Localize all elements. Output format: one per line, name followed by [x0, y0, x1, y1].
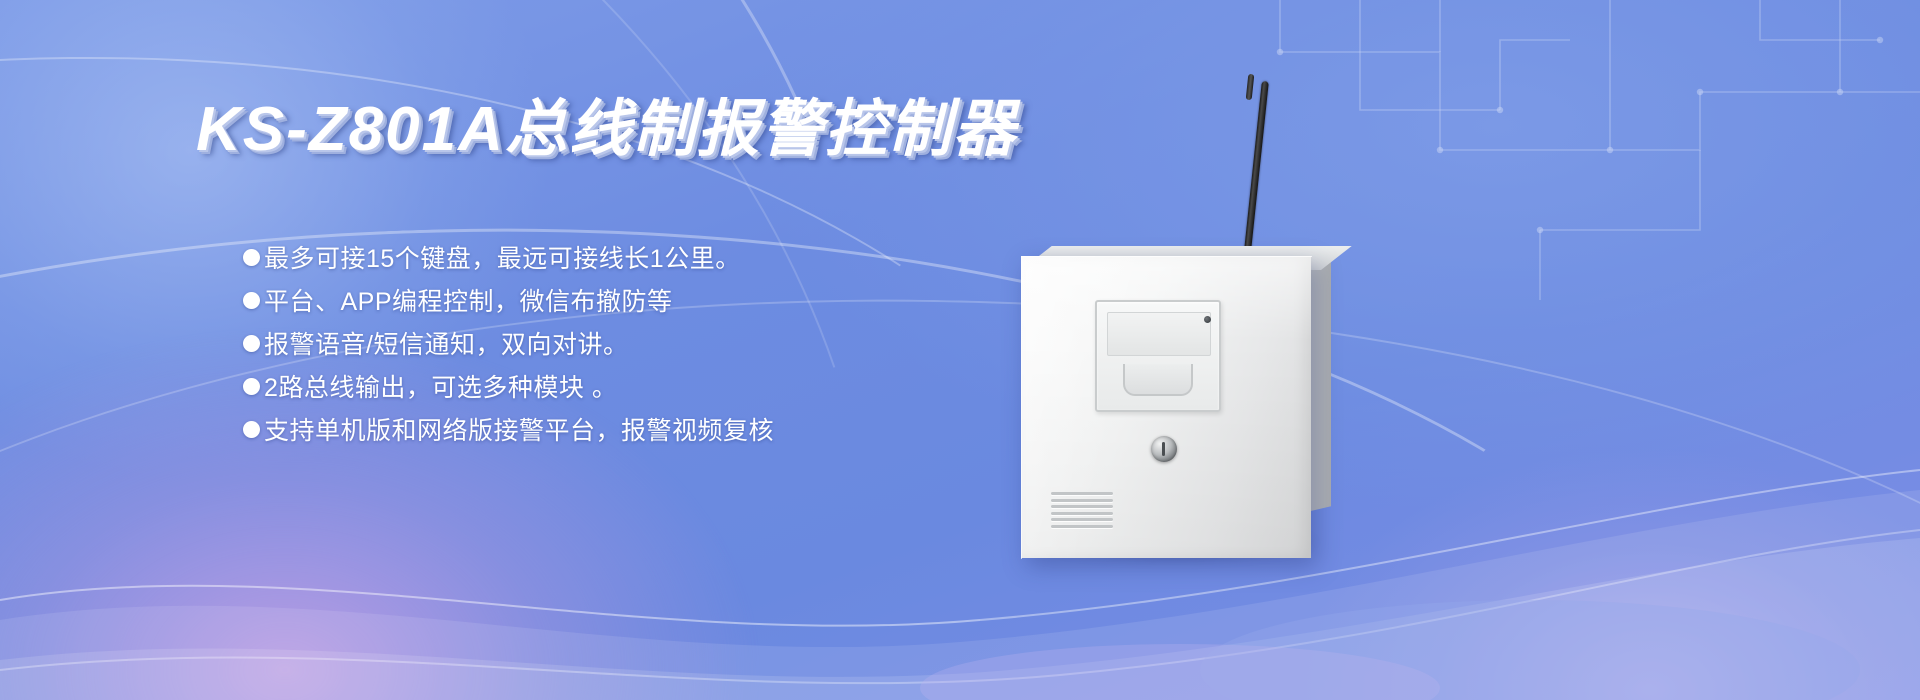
feature-list: 最多可接15个键盘，最远可接线长1公里。 平台、APP编程控制，微信布撤防等 报… [243, 238, 774, 453]
antenna-tip-icon [1246, 74, 1255, 100]
vent-slot [1051, 512, 1113, 515]
device-lock-icon [1151, 436, 1177, 462]
vent-slot [1051, 499, 1113, 502]
feature-item: 平台、APP编程控制，微信布撤防等 [243, 281, 774, 324]
vent-slot [1051, 525, 1113, 528]
feature-item: 支持单机版和网络版接警平台，报警视频复核 [243, 410, 774, 453]
device-display-screen [1107, 312, 1211, 356]
page-title: KS-Z801A总线制报警控制器 [196, 78, 1017, 168]
vent-slot [1051, 518, 1113, 521]
vent-slot [1051, 505, 1113, 508]
device-door-handle [1123, 364, 1193, 396]
feature-text: 最多可接15个键盘，最远可接线长1公里。 [264, 238, 741, 281]
product-image-alarm-control-panel [955, 60, 1515, 620]
feature-text: 支持单机版和网络版接警平台，报警视频复核 [264, 410, 774, 453]
vent-slot [1051, 492, 1113, 495]
bullet-dot-icon [243, 335, 260, 352]
bullet-dot-icon [243, 421, 260, 438]
status-led-icon [1204, 316, 1211, 323]
feature-item: 最多可接15个键盘，最远可接线长1公里。 [243, 238, 774, 281]
feature-text: 2路总线输出，可选多种模块 。 [264, 367, 617, 410]
feature-text: 平台、APP编程控制，微信布撤防等 [264, 281, 673, 324]
product-banner: KS-Z801A总线制报警控制器 最多可接15个键盘，最远可接线长1公里。 平台… [0, 0, 1920, 700]
bullet-dot-icon [243, 378, 260, 395]
feature-item: 2路总线输出，可选多种模块 。 [243, 367, 774, 410]
feature-item: 报警语音/短信通知，双向对讲。 [243, 324, 774, 367]
device-display-bezel [1095, 300, 1221, 412]
device-vents [1051, 492, 1113, 528]
feature-text: 报警语音/短信通知，双向对讲。 [264, 324, 628, 367]
bullet-dot-icon [243, 292, 260, 309]
bullet-dot-icon [243, 249, 260, 266]
